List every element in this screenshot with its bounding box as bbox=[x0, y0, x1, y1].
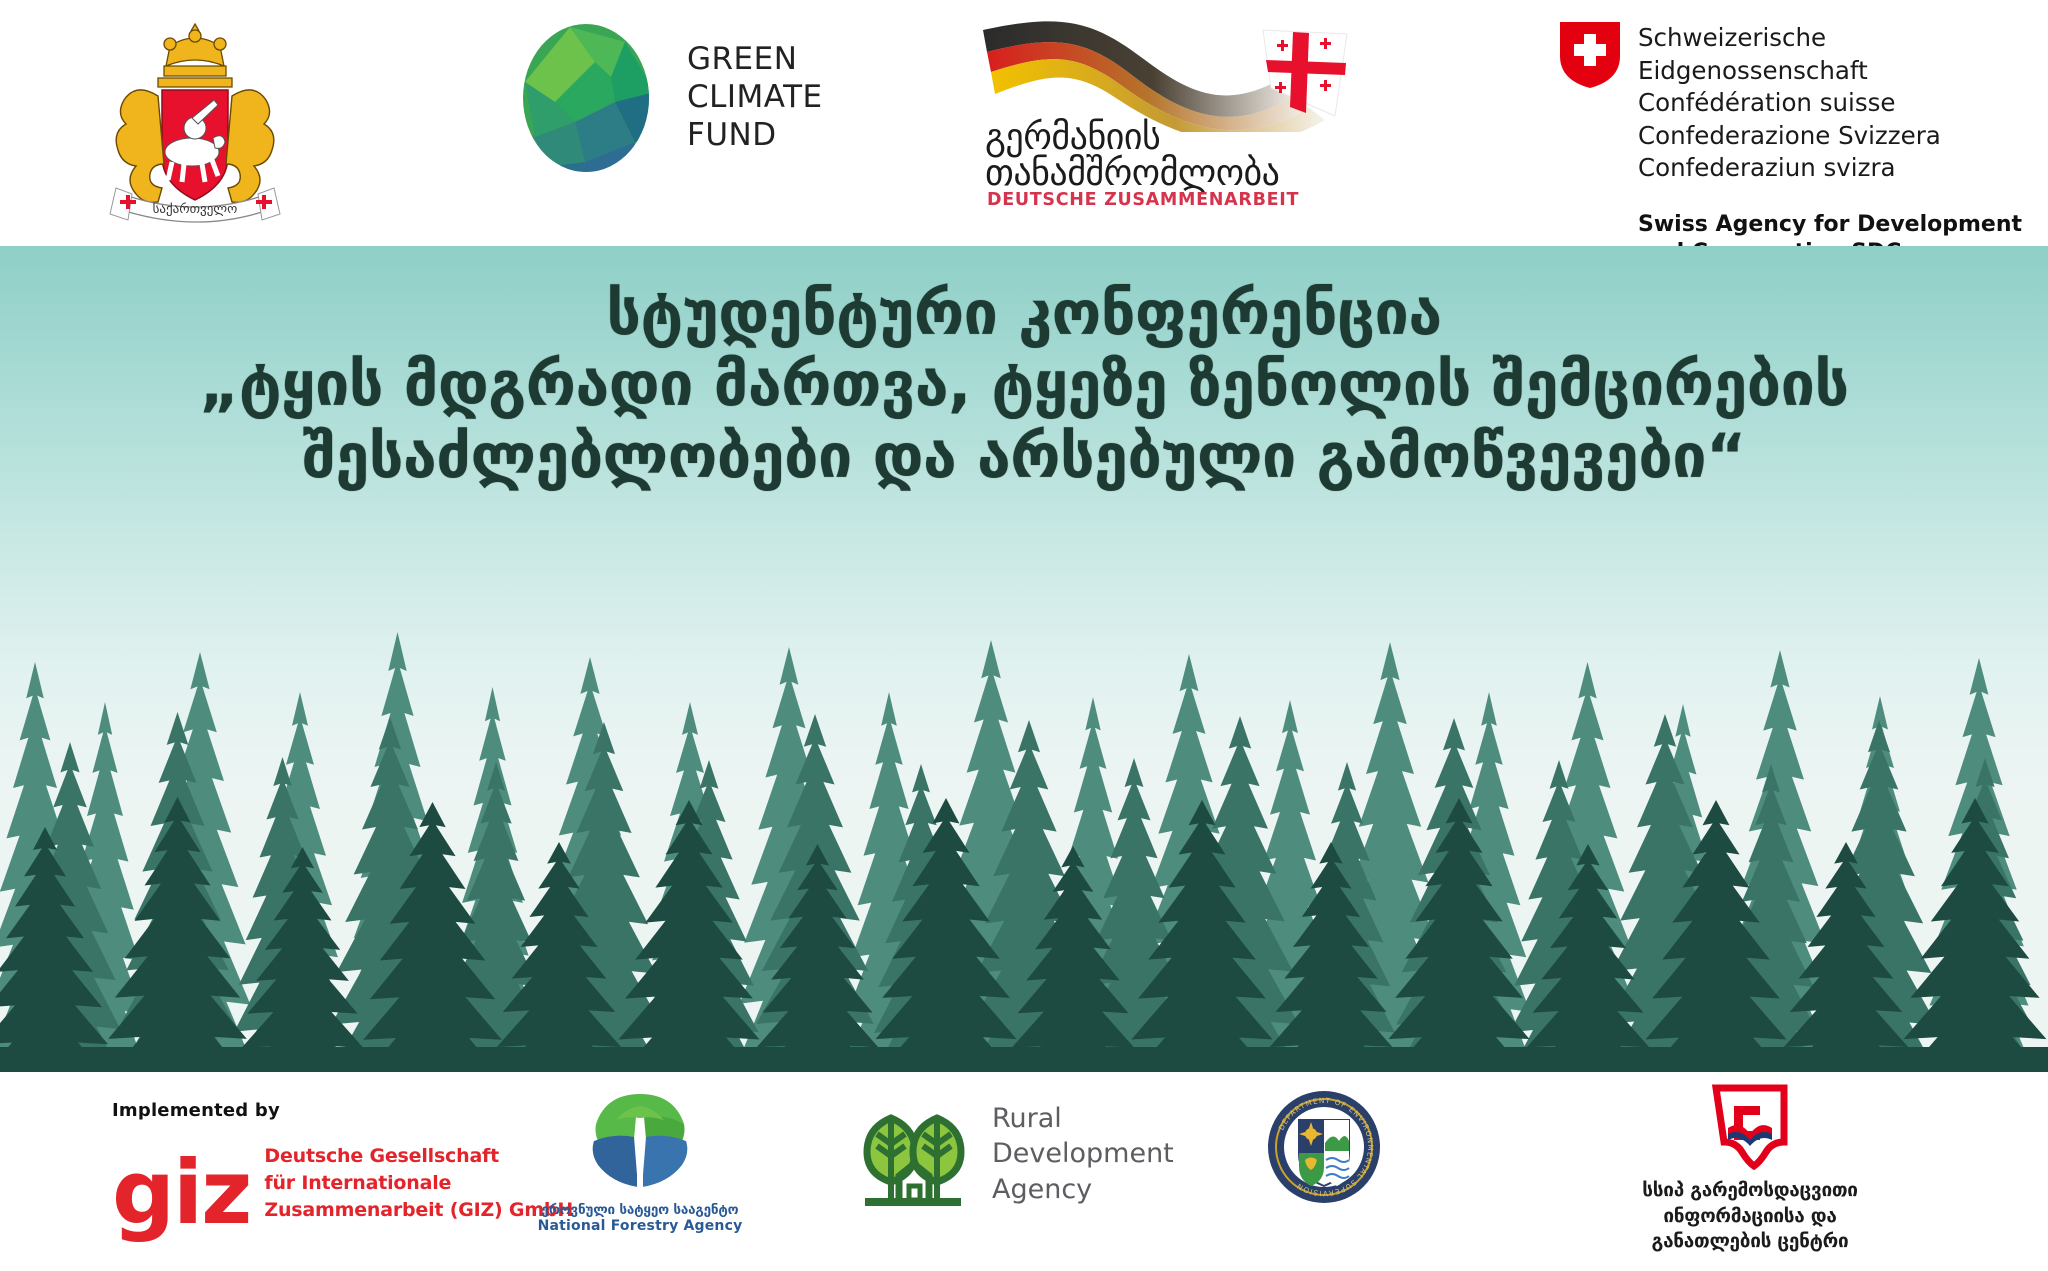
deutsche-zusammenarbeit-label: DEUTSCHE ZUSAMMENARBEIT bbox=[987, 190, 1299, 210]
giz-name-line-1: Deutsche Gesellschaft bbox=[264, 1143, 573, 1170]
header-logo-bar: საქართველო bbox=[0, 0, 2048, 246]
eiec-line-2: ინფორმაციისა და bbox=[1600, 1204, 1900, 1230]
german-cooperation-logo: გერმანიის თანამშრომლობა DEUTSCHE ZUSAMME… bbox=[975, 12, 1355, 212]
forest-silhouette-illustration bbox=[0, 592, 2048, 1072]
giz-logo: Implemented by giz Deutsche Gesellschaft… bbox=[112, 1100, 573, 1228]
conference-title: სტუდენტური კონფერენცია „ტყის მდგრადი მარ… bbox=[0, 246, 2048, 492]
georgia-coat-of-arms-logo: საქართველო bbox=[80, 10, 310, 235]
environmental-supervision-seal-icon: DEPARTMENT OF ENVIRONMENTAL SUPERVISION bbox=[1265, 1088, 1383, 1206]
footer-logo-bar: Implemented by giz Deutsche Gesellschaft… bbox=[0, 1072, 2048, 1271]
eiec-name: სსიპ გარემოსდაცვითი ინფორმაციისა და განა… bbox=[1600, 1178, 1900, 1255]
rda-name: Rural Development Agency bbox=[992, 1101, 1174, 1208]
coat-of-arms-icon: საქართველო bbox=[80, 10, 310, 235]
german-cooperation-georgian-name: გერმანიის თანამშრომლობა bbox=[985, 120, 1295, 192]
gcf-wordmark: GREEN CLIMATE FUND bbox=[687, 41, 823, 154]
giz-wordmark: giz bbox=[112, 1159, 250, 1228]
nfa-name-en: National Forestry Agency bbox=[530, 1218, 750, 1234]
swiss-name-it: Confederazione Svizzera bbox=[1638, 120, 2048, 153]
national-forestry-agency-logo: ეროვნული სატყეო სააგენტო National Forest… bbox=[530, 1086, 750, 1234]
eiec-line-3: განათლების ცენტრი bbox=[1600, 1229, 1900, 1255]
coat-of-arms-motto: საქართველო bbox=[153, 202, 238, 217]
german-georgian-flag-ribbon-icon bbox=[975, 12, 1355, 132]
eiec-shield-book-icon bbox=[1712, 1084, 1788, 1170]
sdc-line-1: Swiss Agency for Development bbox=[1638, 211, 2048, 240]
poster-main-band: სტუდენტური კონფერენცია „ტყის მდგრადი მარ… bbox=[0, 246, 2048, 1072]
forestry-tree-hands-icon bbox=[580, 1086, 700, 1198]
conference-poster: საქართველო bbox=[0, 0, 2048, 1271]
nfa-name-ka: ეროვნული სატყეო სააგენტო bbox=[530, 1202, 750, 1218]
giz-name-line-3: Zusammenarbeit (GIZ) GmbH bbox=[264, 1197, 573, 1224]
title-line-2: „ტყის მდგრადი მართვა, ტყეზე ზენოლის შემც… bbox=[0, 349, 2048, 420]
environmental-supervision-logo: DEPARTMENT OF ENVIRONMENTAL SUPERVISION bbox=[1265, 1088, 1383, 1210]
implemented-by-label: Implemented by bbox=[112, 1100, 573, 1121]
swiss-cross-shield-icon bbox=[1560, 22, 1620, 88]
swiss-name-de: Schweizerische Eidgenossenschaft bbox=[1638, 22, 2048, 87]
rda-line-2: Development bbox=[992, 1136, 1174, 1172]
green-climate-fund-logo: GREEN CLIMATE FUND bbox=[515, 22, 823, 174]
gcf-line-1: GREEN bbox=[687, 41, 823, 79]
gcf-gem-icon bbox=[515, 22, 657, 174]
swiss-confederation-logo: Schweizerische Eidgenossenschaft Confédé… bbox=[1560, 22, 2048, 268]
rda-trees-house-icon bbox=[855, 1098, 970, 1210]
giz-full-name: Deutsche Gesellschaft für Internationale… bbox=[264, 1143, 573, 1228]
rural-development-agency-logo: Rural Development Agency bbox=[855, 1098, 1174, 1210]
giz-name-line-2: für Internationale bbox=[264, 1170, 573, 1197]
title-line-3: შესაძლებლობები და არსებული გამოწვევები“ bbox=[0, 421, 2048, 492]
ggc-ka-line-1: გერმანიის bbox=[985, 120, 1295, 156]
rda-line-1: Rural bbox=[992, 1101, 1174, 1137]
ggc-ka-line-2: თანამშრომლობა bbox=[985, 156, 1295, 192]
title-line-1: სტუდენტური კონფერენცია bbox=[0, 278, 2048, 349]
environmental-info-education-centre-logo: სსიპ გარემოსდაცვითი ინფორმაციისა და განა… bbox=[1600, 1084, 1900, 1255]
eiec-line-1: სსიპ გარემოსდაცვითი bbox=[1600, 1178, 1900, 1204]
swiss-confederation-names: Schweizerische Eidgenossenschaft Confédé… bbox=[1638, 22, 2048, 185]
swiss-name-fr: Confédération suisse bbox=[1638, 87, 2048, 120]
gcf-line-2: CLIMATE bbox=[687, 79, 823, 117]
rda-line-3: Agency bbox=[992, 1172, 1174, 1208]
swiss-name-rm: Confederaziun svizra bbox=[1638, 152, 2048, 185]
gcf-line-3: FUND bbox=[687, 117, 823, 155]
